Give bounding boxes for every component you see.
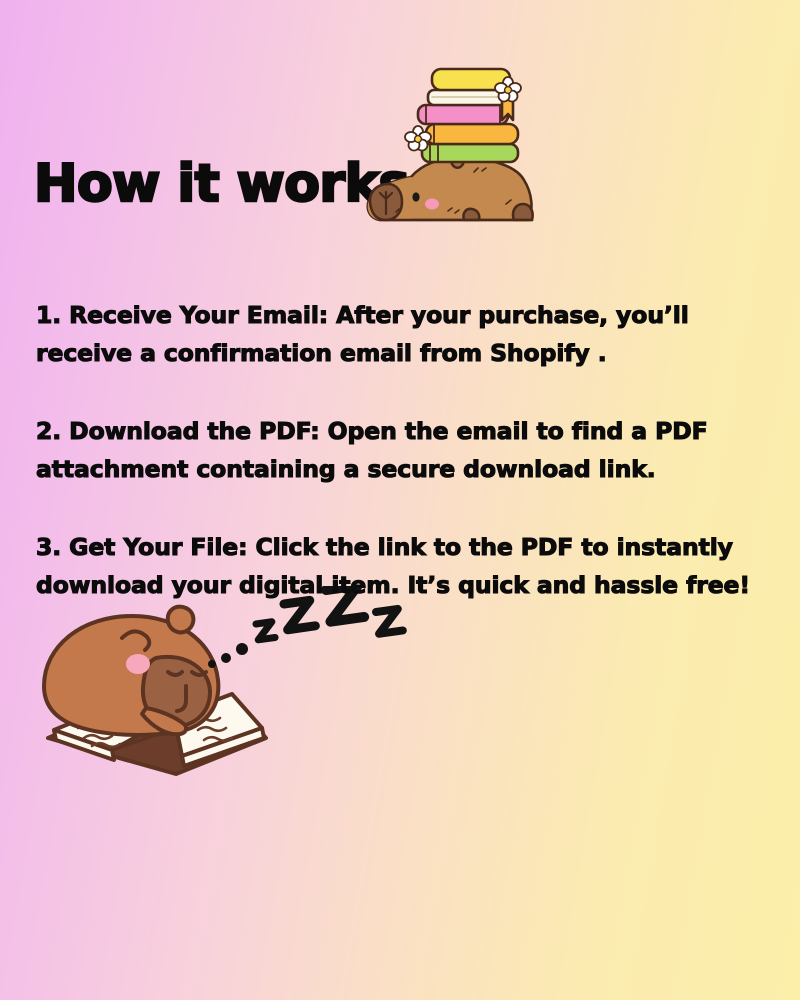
zzz-dot-3: [236, 643, 248, 655]
step-item-3: 3. Get Your File: Click the link to the …: [36, 528, 760, 604]
zzz-dot-2: [221, 653, 231, 663]
poster-canvas: How it works: [0, 0, 800, 1000]
sleeping-capybara-body-group: [44, 607, 218, 735]
step-item-2: 2. Download the PDF: Open the email to f…: [36, 412, 760, 488]
zzz-dot-1: [208, 660, 216, 668]
zzz-glyph-1: [256, 622, 275, 640]
capybara-with-book-stack-illustration: [356, 52, 556, 242]
capybara-blush: [425, 199, 439, 210]
zzz-glyph-2: [284, 600, 315, 630]
page-title: How it works: [34, 158, 409, 210]
capybara-eye: [412, 192, 419, 201]
sleeping-capybara-blush: [126, 654, 150, 674]
zzz-glyph-4: [376, 609, 403, 634]
step-item-1: 1. Receive Your Email: After your purcha…: [36, 296, 760, 372]
steps-list: 1. Receive Your Email: After your purcha…: [36, 272, 760, 604]
